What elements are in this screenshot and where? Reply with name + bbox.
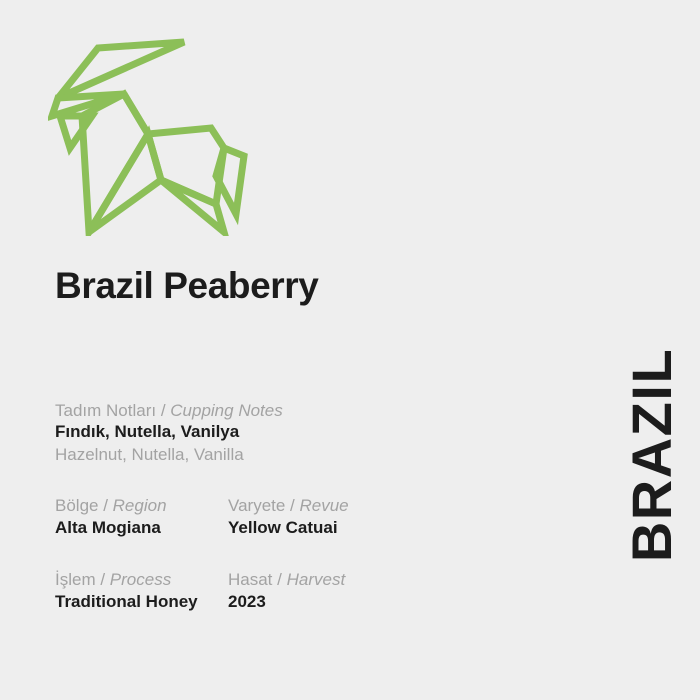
spec-label-region: Bölge / Region: [55, 495, 228, 516]
spec-label-separator: /: [272, 570, 286, 589]
spec-value-cupping-notes-en: Hazelnut, Nutella, Vanilla: [55, 444, 475, 466]
specs-section: Tadım Notları / Cupping Notes Fındık, Nu…: [55, 400, 475, 644]
spec-label-separator: /: [156, 401, 170, 420]
spec-row-region-variety: Bölge / Region Alta Mogiana Varyete / Re…: [55, 495, 475, 539]
country-name: BRAZIL: [624, 348, 680, 562]
spec-label-region-en: Region: [113, 496, 167, 515]
spec-value-process: Traditional Honey: [55, 591, 228, 614]
spec-label-variety-en: Revue: [300, 496, 349, 515]
country-vertical-wordmark: BRAZIL: [622, 330, 682, 580]
spec-label-separator: /: [98, 496, 112, 515]
coffee-label-card: Brazil Peaberry BRAZIL Tadım Notları / C…: [0, 0, 700, 700]
spec-label-cupping-notes-en: Cupping Notes: [170, 401, 282, 420]
spec-region: Bölge / Region Alta Mogiana: [55, 495, 228, 539]
spec-label-region-tr: Bölge: [55, 496, 98, 515]
spec-label-process: İşlem / Process: [55, 569, 228, 590]
spec-row-process-harvest: İşlem / Process Traditional Honey Hasat …: [55, 569, 475, 613]
spec-value-cupping-notes-tr: Fındık, Nutella, Vanilya: [55, 421, 475, 444]
spec-value-region: Alta Mogiana: [55, 517, 228, 540]
spec-label-harvest-tr: Hasat: [228, 570, 272, 589]
spec-label-cupping-notes: Tadım Notları / Cupping Notes: [55, 400, 475, 421]
spec-value-variety: Yellow Catuai: [228, 517, 401, 540]
page-title: Brazil Peaberry: [55, 266, 318, 307]
spec-label-separator: /: [96, 570, 110, 589]
spec-label-variety-tr: Varyete: [228, 496, 285, 515]
spec-harvest: Hasat / Harvest 2023: [228, 569, 401, 613]
spec-cupping-notes: Tadım Notları / Cupping Notes Fındık, Nu…: [55, 400, 475, 466]
origami-goat-icon: [48, 36, 258, 236]
spec-value-harvest: 2023: [228, 591, 401, 614]
spec-label-separator: /: [285, 496, 299, 515]
brand-logo: [48, 36, 258, 236]
spec-label-harvest: Hasat / Harvest: [228, 569, 401, 590]
spec-label-process-en: Process: [110, 570, 171, 589]
spec-variety: Varyete / Revue Yellow Catuai: [228, 495, 401, 539]
spec-label-harvest-en: Harvest: [287, 570, 346, 589]
spec-label-variety: Varyete / Revue: [228, 495, 401, 516]
spec-label-process-tr: İşlem: [55, 570, 96, 589]
spec-process: İşlem / Process Traditional Honey: [55, 569, 228, 613]
spec-label-cupping-notes-tr: Tadım Notları: [55, 401, 156, 420]
